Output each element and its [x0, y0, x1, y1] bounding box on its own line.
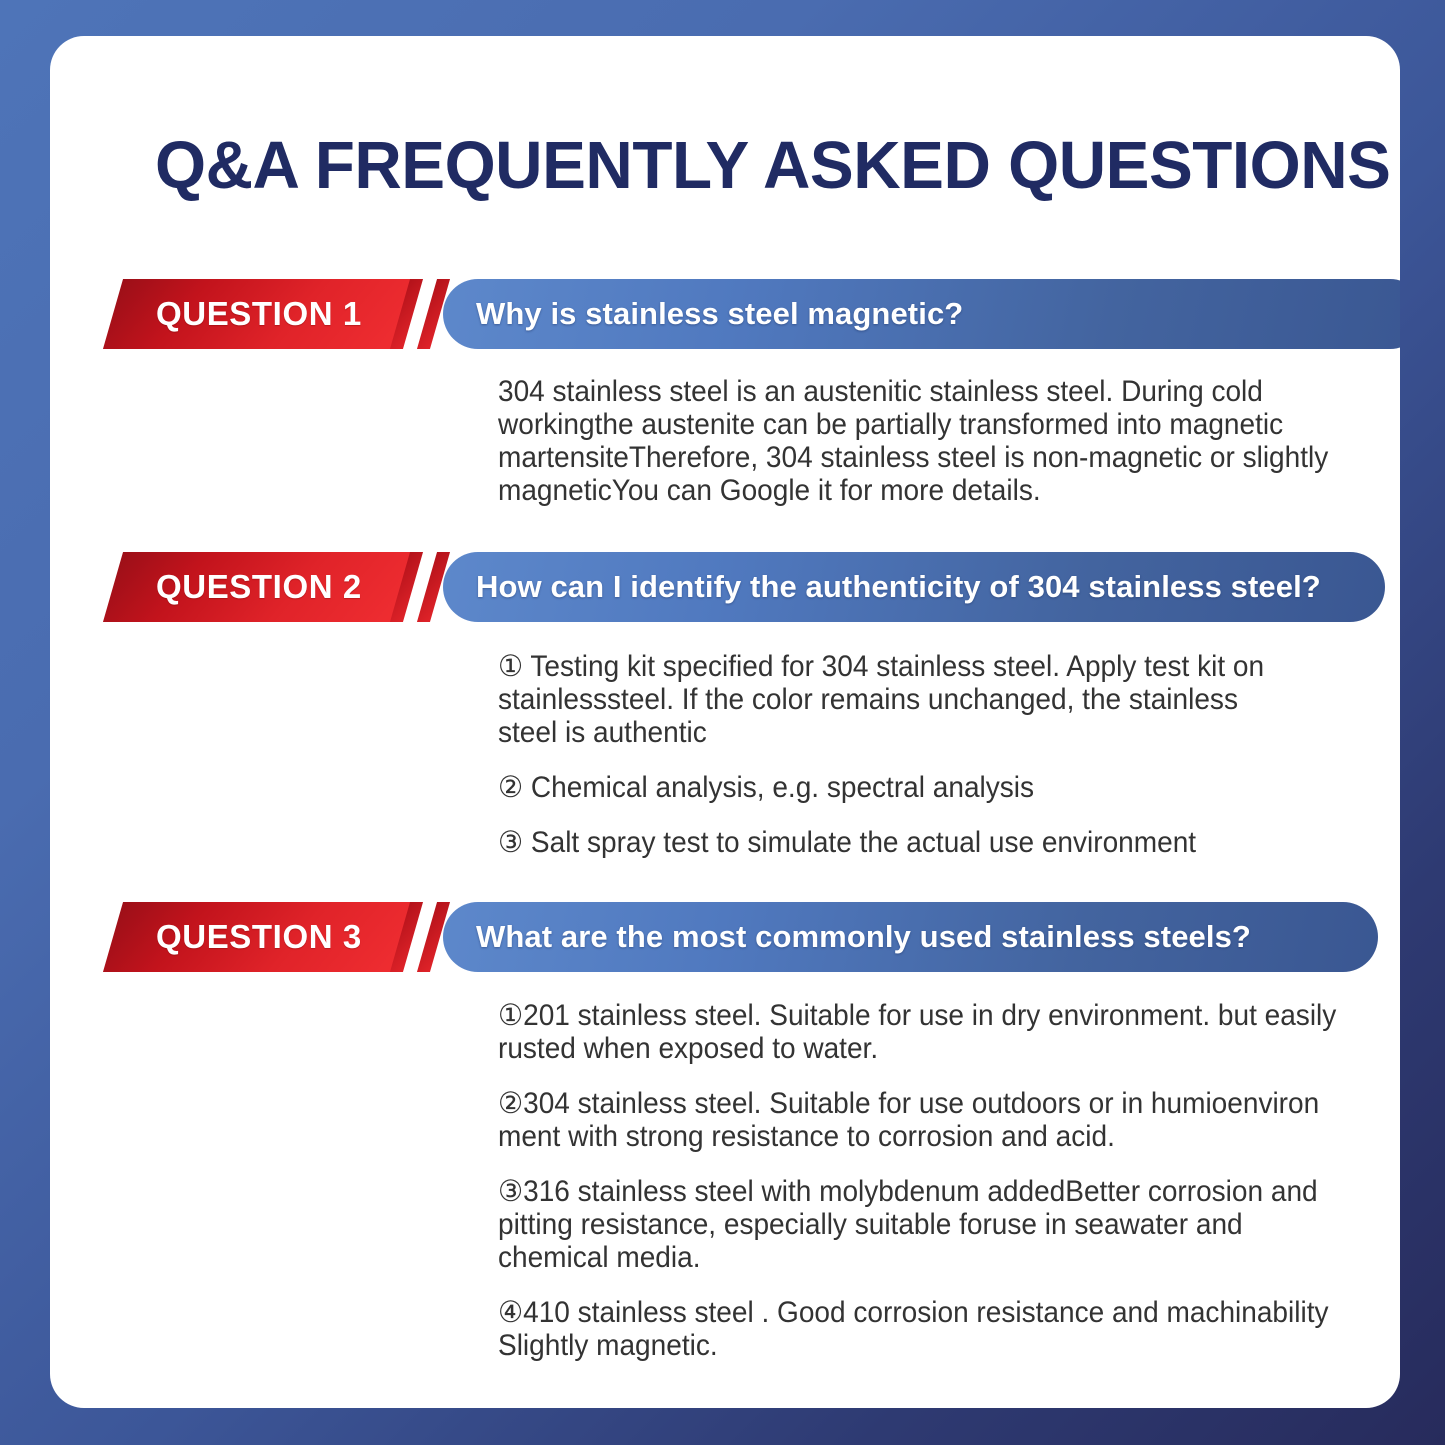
answer-block-1: 304 stainless steel is an austenitic sta… — [498, 375, 1382, 507]
answer-paragraph: ③316 stainless steel with molybdenum add… — [498, 1175, 1353, 1274]
page-title: Q&A FREQUENTLY ASKED QUESTIONS — [155, 128, 1331, 204]
question-pill-3[interactable]: What are the most commonly used stainles… — [443, 902, 1378, 972]
question-tag-1: QUESTION 1 — [103, 279, 415, 349]
faq-header-row-1: QUESTION 1 Why is stainless steel magnet… — [50, 279, 1400, 349]
answer-paragraph: ② Chemical analysis, e.g. spectral analy… — [498, 771, 1287, 804]
answer-paragraph: ①201 stainless steel. Suitable for use i… — [498, 999, 1353, 1065]
question-pill-2[interactable]: How can I identify the authenticity of 3… — [443, 552, 1385, 622]
answer-paragraph: ③ Salt spray test to simulate the actual… — [498, 826, 1287, 859]
question-text-1: Why is stainless steel magnetic? — [476, 296, 963, 332]
faq-header-row-2: QUESTION 2 How can I identify the authen… — [50, 552, 1400, 622]
answer-block-3: ①201 stainless steel. Suitable for use i… — [498, 999, 1353, 1362]
answer-paragraph: 304 stainless steel is an austenitic sta… — [498, 375, 1382, 507]
question-tag-3: QUESTION 3 — [103, 902, 415, 972]
answer-block-2: ① Testing kit specified for 304 stainles… — [498, 650, 1287, 859]
answer-paragraph: ④410 stainless steel . Good corrosion re… — [498, 1296, 1353, 1362]
question-tag-label-2: QUESTION 2 — [156, 568, 362, 606]
faq-card: Q&A FREQUENTLY ASKED QUESTIONS QUESTION … — [50, 36, 1400, 1408]
question-pill-1[interactable]: Why is stainless steel magnetic? — [443, 279, 1400, 349]
faq-header-row-3: QUESTION 3 What are the most commonly us… — [50, 902, 1400, 972]
question-text-2: How can I identify the authenticity of 3… — [476, 569, 1321, 605]
answer-paragraph: ① Testing kit specified for 304 stainles… — [498, 650, 1287, 749]
question-tag-2: QUESTION 2 — [103, 552, 415, 622]
question-text-3: What are the most commonly used stainles… — [476, 919, 1251, 955]
poster-background: Q&A FREQUENTLY ASKED QUESTIONS QUESTION … — [0, 0, 1445, 1445]
question-tag-label-3: QUESTION 3 — [156, 918, 362, 956]
answer-paragraph: ②304 stainless steel. Suitable for use o… — [498, 1087, 1353, 1153]
question-tag-label-1: QUESTION 1 — [156, 295, 362, 333]
